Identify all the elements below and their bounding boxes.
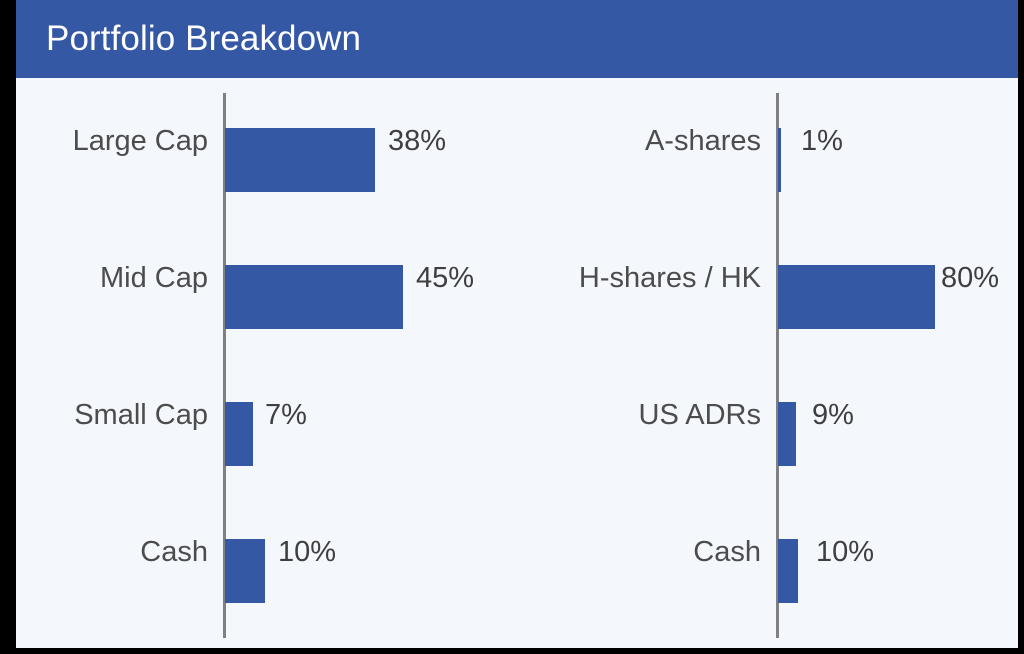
bar-us-adrs <box>778 402 796 466</box>
value-label-cash: 10% <box>278 535 336 569</box>
bar-cash <box>778 539 798 603</box>
category-label-us-adrs: US ADRs <box>516 398 761 432</box>
bar-row-cash: Cash 10% <box>16 489 516 626</box>
category-label-cash: Cash <box>16 535 208 569</box>
slide: Portfolio Breakdown Large Cap 38% Mid Ca… <box>0 0 1024 654</box>
frame-right-edge <box>1018 0 1024 654</box>
frame-bottom-edge <box>0 648 1024 654</box>
value-label-cash: 10% <box>816 535 874 569</box>
bar-row-a-shares: A-shares 1% <box>516 78 1018 215</box>
chart-listing-venue-breakdown: A-shares 1% H-shares / HK 80% US ADRs 9%… <box>516 78 1018 648</box>
bar-row-mid-cap: Mid Cap 45% <box>16 215 516 352</box>
value-label-mid-cap: 45% <box>416 261 474 295</box>
chart-market-cap-breakdown: Large Cap 38% Mid Cap 45% Small Cap 7% C… <box>16 78 516 648</box>
value-label-small-cap: 7% <box>265 398 307 432</box>
category-label-cash: Cash <box>516 535 761 569</box>
bar-a-shares <box>778 128 781 192</box>
category-label-h-shares-hk: H-shares / HK <box>516 261 761 295</box>
page-title: Portfolio Breakdown <box>46 19 361 59</box>
bar-row-h-shares-hk: H-shares / HK 80% <box>516 215 1018 352</box>
value-label-a-shares: 1% <box>801 124 843 158</box>
title-banner: Portfolio Breakdown <box>16 0 1018 78</box>
bar-small-cap <box>225 402 253 466</box>
value-label-large-cap: 38% <box>388 124 446 158</box>
bar-mid-cap <box>225 265 403 329</box>
bar-cash <box>225 539 265 603</box>
category-label-small-cap: Small Cap <box>16 398 208 432</box>
bar-row-us-adrs: US ADRs 9% <box>516 352 1018 489</box>
bar-row-small-cap: Small Cap 7% <box>16 352 516 489</box>
category-label-large-cap: Large Cap <box>16 124 208 158</box>
bar-large-cap <box>225 128 375 192</box>
value-label-h-shares-hk: 80% <box>941 261 999 295</box>
value-label-us-adrs: 9% <box>812 398 854 432</box>
category-label-a-shares: A-shares <box>516 124 761 158</box>
bar-row-large-cap: Large Cap 38% <box>16 78 516 215</box>
frame-left-edge <box>0 0 16 654</box>
bar-h-shares-hk <box>778 265 935 329</box>
bar-row-cash: Cash 10% <box>516 489 1018 626</box>
category-label-mid-cap: Mid Cap <box>16 261 208 295</box>
